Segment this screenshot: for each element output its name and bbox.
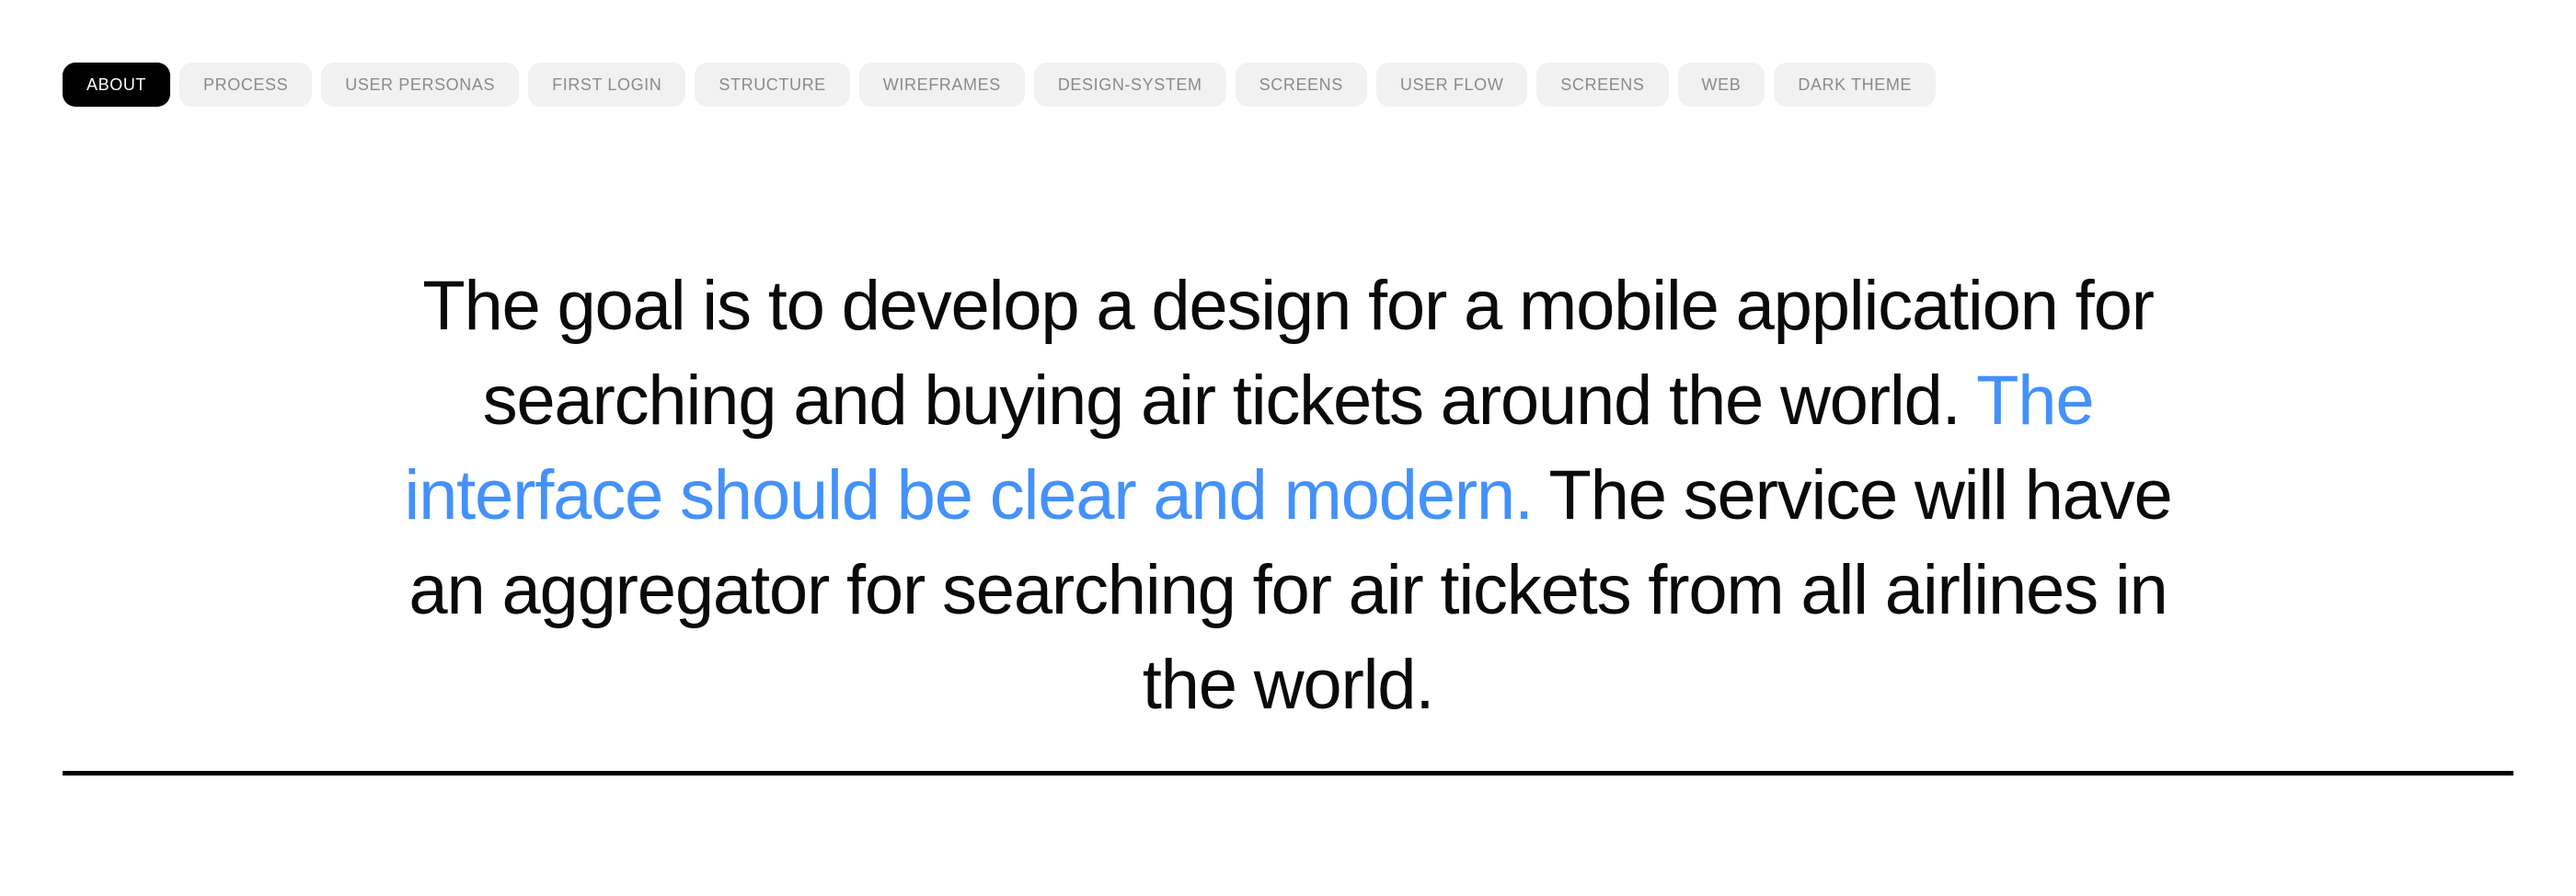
nav-pill-about-0[interactable]: ABOUT (63, 63, 170, 107)
about-statement-text: The goal is to develop a design for a mo… (386, 258, 2190, 732)
nav-pill-design-system-6[interactable]: DESIGN-SYSTEM (1034, 63, 1226, 107)
nav-pill-user-flow-8[interactable]: USER FLOW (1376, 63, 1527, 107)
nav-pill-screens-7[interactable]: SCREENS (1236, 63, 1367, 107)
nav-pill-user-personas-2[interactable]: USER PERSONAS (321, 63, 519, 107)
nav-pill-first-login-3[interactable]: FIRST LOGIN (528, 63, 685, 107)
nav-pill-web-10[interactable]: WEB (1678, 63, 1765, 107)
section-tab-nav: ABOUTPROCESSUSER PERSONASFIRST LOGINSTRU… (63, 63, 1936, 107)
about-statement-block: The goal is to develop a design for a mo… (0, 189, 2576, 802)
nav-pill-screens-9[interactable]: SCREENS (1536, 63, 1668, 107)
statement-lead: The goal is to develop a design for a mo… (422, 267, 2154, 440)
section-divider-rule (63, 771, 2513, 775)
nav-pill-structure-4[interactable]: STRUCTURE (695, 63, 849, 107)
nav-pill-process-1[interactable]: PROCESS (179, 63, 312, 107)
page-root: ABOUTPROCESSUSER PERSONASFIRST LOGINSTRU… (0, 0, 2576, 896)
nav-pill-wireframes-5[interactable]: WIREFRAMES (859, 63, 1025, 107)
nav-pill-dark-theme-11[interactable]: DARK THEME (1774, 63, 1936, 107)
